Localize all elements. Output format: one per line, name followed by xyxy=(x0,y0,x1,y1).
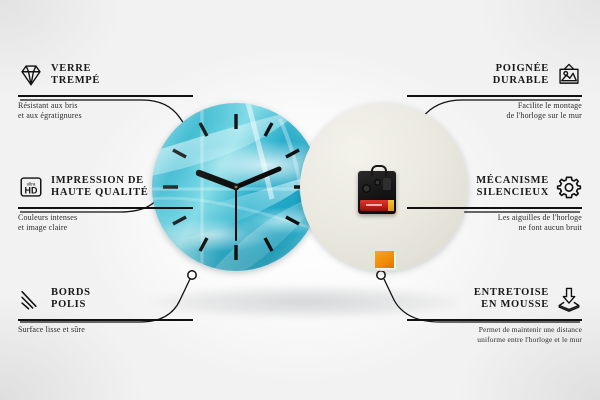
feature-rule xyxy=(407,95,582,97)
feature-desc-line1: Les aiguilles de l'horloge xyxy=(407,213,582,223)
feature-desc-line1: Résistant aux bris xyxy=(18,101,193,111)
feature-desc-line2: uniforme entre l'horloge et le mur xyxy=(407,335,582,345)
feature-desc-line2: et aux égratignures xyxy=(18,111,193,121)
feature-mecanisme-silencieux[interactable]: MÉCANISME SILENCIEUX Les aiguilles de l'… xyxy=(407,170,582,233)
feature-desc-line2: de l'horloge sur le mur xyxy=(407,111,582,121)
feature-title-line2: TREMPÉ xyxy=(51,75,100,88)
feature-rule xyxy=(407,207,582,209)
feature-title-line1: VERRE xyxy=(51,63,100,76)
feature-desc-line2: ne font aucun bruit xyxy=(407,223,582,233)
foam-spacer-icon xyxy=(556,286,582,312)
foam-spacer xyxy=(375,251,394,268)
feature-rule xyxy=(18,207,193,209)
callout-dot-entretoise[interactable] xyxy=(377,271,385,279)
mechanism-slot xyxy=(383,178,391,190)
ultra-hd-main-text: HD xyxy=(25,186,38,196)
feature-title-line2: POLIS xyxy=(51,299,91,312)
feature-title-line2: HAUTE QUALITÉ xyxy=(51,187,149,200)
quartz-mechanism xyxy=(358,171,396,214)
hour-hand xyxy=(199,173,236,187)
feature-title-line1: MÉCANISME xyxy=(476,175,549,188)
diamond-icon xyxy=(18,62,44,88)
feature-title-line1: IMPRESSION DE xyxy=(51,175,149,188)
feature-title-line2: EN MOUSSE xyxy=(474,299,549,312)
feature-title-line1: ENTRETOISE xyxy=(474,287,549,300)
picture-hanger-icon xyxy=(556,62,582,88)
infographic-canvas: VERRE TREMPÉ Résistant aux bris et aux é… xyxy=(0,0,600,400)
feature-desc-line2: et image claire xyxy=(18,223,193,233)
feature-bords-polis[interactable]: BORDS POLIS Surface lisse et sûre xyxy=(18,282,193,335)
minute-hand xyxy=(236,169,279,187)
feature-poignee-durable[interactable]: POIGNÉE DURABLE Facilite le montage de l… xyxy=(407,58,582,121)
feature-title-line1: POIGNÉE xyxy=(493,63,549,76)
feature-title-line1: BORDS xyxy=(51,287,91,300)
ultra-hd-badge-icon: ultra HD xyxy=(18,174,44,200)
gear-icon xyxy=(556,174,582,200)
feature-title-line2: DURABLE xyxy=(493,75,549,88)
feature-desc-line1: Permet de maintenir une distance xyxy=(407,325,582,335)
feature-verre-trempe[interactable]: VERRE TREMPÉ Résistant aux bris et aux é… xyxy=(18,58,193,121)
feature-entretoise-en-mousse[interactable]: ENTRETOISE EN MOUSSE Permet de maintenir… xyxy=(407,282,582,345)
feature-rule xyxy=(18,95,193,97)
feature-rule xyxy=(18,319,193,321)
feature-impression-haute-qualite[interactable]: ultra HD IMPRESSION DE HAUTE QUALITÉ Cou… xyxy=(18,170,193,233)
callout-dot-bords-polis[interactable] xyxy=(188,271,196,279)
feature-rule xyxy=(407,319,582,321)
feature-desc-line1: Facilite le montage xyxy=(407,101,582,111)
feature-title-line2: SILENCIEUX xyxy=(476,187,549,200)
battery xyxy=(360,200,394,211)
feature-desc-line1: Couleurs intenses xyxy=(18,213,193,223)
feature-desc-line1: Surface lisse et sûre xyxy=(18,325,193,335)
hanger-loop-icon xyxy=(371,165,387,176)
polished-edges-icon xyxy=(18,286,44,312)
mechanism-dial xyxy=(362,184,371,193)
mechanism-dial-secondary xyxy=(374,179,381,186)
